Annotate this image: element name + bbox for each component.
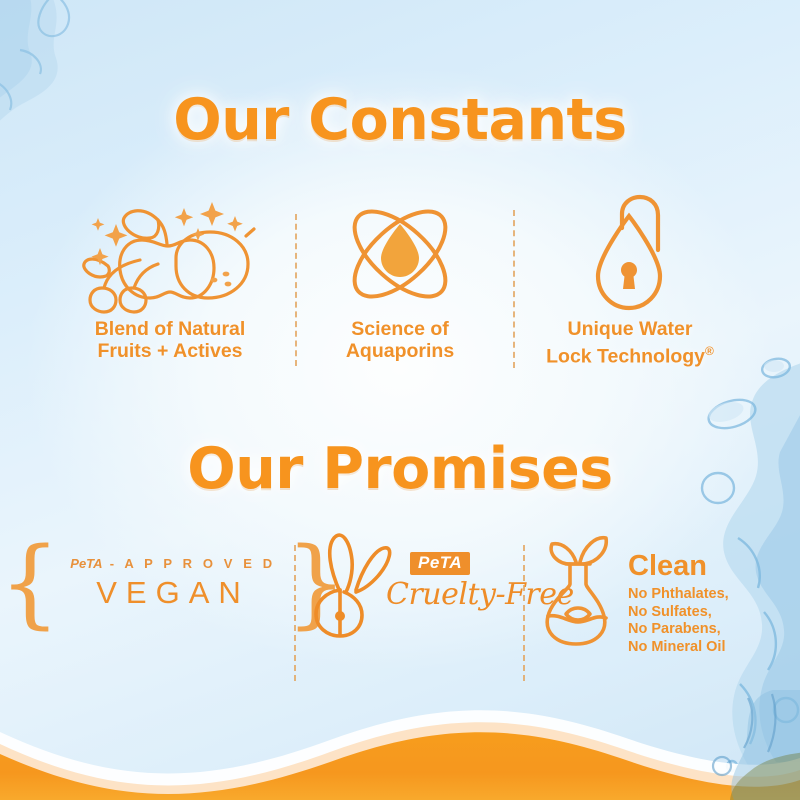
- constant-item-fruits: Blend of Natural Fruits + Actives: [55, 196, 285, 362]
- orange-wave-shape: [0, 680, 800, 800]
- page-title-promises: Our Promises: [0, 436, 800, 502]
- clean-claim-list: No Phthalates, No Sulfates, No Parabens,…: [628, 586, 729, 656]
- divider-promises-2: [523, 545, 525, 681]
- brace-left-icon: {: [0, 535, 60, 631]
- constants-row: Blend of Natural Fruits + Actives Scienc…: [0, 196, 800, 376]
- fruits-sparkle-icon: [55, 196, 285, 314]
- promise-item-cruelty-free: PeTA Cruelty-Free: [300, 528, 520, 648]
- divider-constants-1: [295, 214, 297, 366]
- peta-wordmark: PeTA: [70, 556, 102, 571]
- atom-droplet-icon: [285, 196, 515, 314]
- promise-item-clean: Clean No Phthalates, No Sulfates, No Par…: [540, 528, 770, 658]
- divider-promises-1: [294, 545, 296, 681]
- promise-item-vegan: { PeTA - A P P R O V E D VEGAN }: [52, 528, 294, 638]
- peta-badge: PeTA: [410, 552, 470, 575]
- approved-text: - A P P R O V E D: [110, 556, 276, 571]
- clean-claim: No Sulfates,: [628, 604, 729, 622]
- constant-label: Blend of Natural Fruits + Actives: [55, 318, 285, 362]
- clean-title: Clean: [628, 552, 729, 581]
- peta-vegan-badge-icon: { PeTA - A P P R O V E D VEGAN }: [52, 528, 294, 638]
- constant-label-text: Unique Water Lock Technology: [546, 318, 705, 368]
- constant-item-water-lock: Unique Water Lock Technology®: [515, 196, 745, 368]
- clean-claim: No Parabens,: [628, 621, 729, 639]
- vegan-wordmark: VEGAN: [70, 575, 275, 611]
- droplet-lock-icon: [515, 196, 745, 314]
- constant-label: Unique Water Lock Technology®: [515, 318, 745, 368]
- flask-leaves-icon: [540, 532, 620, 648]
- peta-bunny-icon: [306, 530, 398, 640]
- divider-constants-2: [513, 210, 515, 368]
- clean-claim: No Mineral Oil: [628, 639, 729, 657]
- clean-claim: No Phthalates,: [628, 586, 729, 604]
- page-title-constants: Our Constants: [0, 87, 800, 153]
- registered-mark: ®: [705, 344, 714, 358]
- vegan-approved-line: PeTA - A P P R O V E D: [70, 556, 275, 571]
- promo-graphic: Our Constants: [0, 0, 800, 800]
- constant-item-aquaporins: Science of Aquaporins: [285, 196, 515, 362]
- promises-row: { PeTA - A P P R O V E D VEGAN }: [0, 528, 800, 688]
- constant-label: Science of Aquaporins: [285, 318, 515, 362]
